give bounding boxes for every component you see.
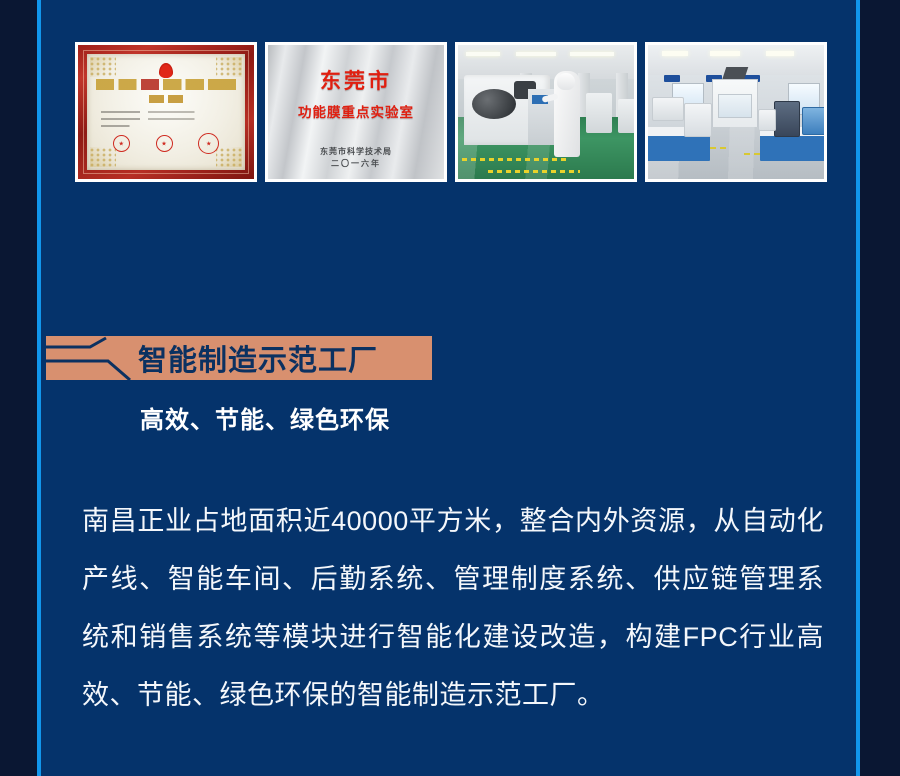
photo-cleanroom-production[interactable]	[455, 42, 637, 182]
lab-instrument	[774, 101, 800, 137]
metal-plaque: 东莞市 功能膜重点实验室 东莞市科学技术局 二〇一六年	[268, 45, 444, 179]
subheading: 高效、节能、绿色环保	[140, 400, 390, 435]
photo-high-tech-enterprise-certificate[interactable]	[75, 42, 257, 182]
ceiling-lamp	[570, 52, 614, 56]
certificate-detail-line	[101, 125, 231, 127]
official-seal-icon	[198, 133, 219, 154]
certificate-detail-lines	[101, 111, 231, 132]
plaque-line-issuer: 东莞市科学技术局	[268, 146, 444, 157]
certificate-seals	[87, 133, 245, 154]
official-seal-icon	[113, 135, 130, 152]
auxiliary-unit	[586, 93, 612, 133]
ceiling-light	[766, 51, 794, 56]
photo-inner	[648, 45, 824, 179]
plaque-line-year: 二〇一六年	[268, 158, 444, 169]
lab-instrument	[802, 107, 824, 135]
auxiliary-unit	[618, 99, 634, 133]
banner-title: 智能制造示范工厂	[138, 337, 378, 379]
ceiling-lamp	[466, 52, 500, 56]
photo-strip: 东莞市 功能膜重点实验室 东莞市科学技术局 二〇一六年	[75, 42, 827, 182]
certificate-corner-ornament	[90, 57, 116, 77]
lab-instrument	[652, 97, 684, 121]
flame-emblem-icon	[159, 63, 173, 78]
official-seal-icon	[156, 135, 173, 152]
certificate-paper	[87, 54, 245, 170]
lab-instrument	[684, 103, 712, 137]
plaque-line-city: 东莞市	[268, 65, 444, 95]
photo-inner: 东莞市 功能膜重点实验室 东莞市科学技术局 二〇一六年	[268, 45, 444, 179]
ceiling-light	[662, 51, 688, 56]
laboratory-scene	[648, 45, 824, 179]
photo-laboratory-interior[interactable]	[645, 42, 827, 182]
machine-roller	[472, 89, 516, 119]
certificate-detail-line	[101, 118, 231, 120]
photo-key-laboratory-plaque[interactable]: 东莞市 功能膜重点实验室 东莞市科学技术局 二〇一六年	[265, 42, 447, 182]
photo-inner	[78, 45, 254, 179]
certificate-subtitle-text	[149, 95, 183, 103]
plaque-line-laboratory: 功能膜重点实验室	[268, 101, 444, 121]
operator-in-coverall	[554, 71, 580, 157]
floor-marking-stripe	[462, 158, 570, 161]
ceiling-lamp	[516, 52, 556, 56]
certificate-corner-ornament	[216, 57, 242, 77]
cleanroom-scene	[458, 45, 634, 179]
left-accent-line	[37, 0, 41, 776]
room-sign	[664, 75, 680, 82]
ceiling-light	[710, 51, 740, 56]
body-paragraph: 南昌正业占地面积近40000平方米，整合内外资源，从自动化产线、智能车间、后勤系…	[82, 492, 824, 724]
certificate-title-text	[96, 79, 236, 90]
ceiling	[458, 45, 634, 79]
certificate-detail-line	[101, 111, 231, 113]
right-accent-line	[856, 0, 860, 776]
photo-inner	[458, 45, 634, 179]
certificate-frame	[78, 45, 254, 179]
promotional-page: 东莞市 功能膜重点实验室 东莞市科学技术局 二〇一六年	[0, 0, 900, 776]
section-title-banner: 智能制造示范工厂	[46, 336, 432, 380]
floor-marking-stripe	[488, 170, 580, 173]
lab-instrument	[758, 109, 776, 131]
